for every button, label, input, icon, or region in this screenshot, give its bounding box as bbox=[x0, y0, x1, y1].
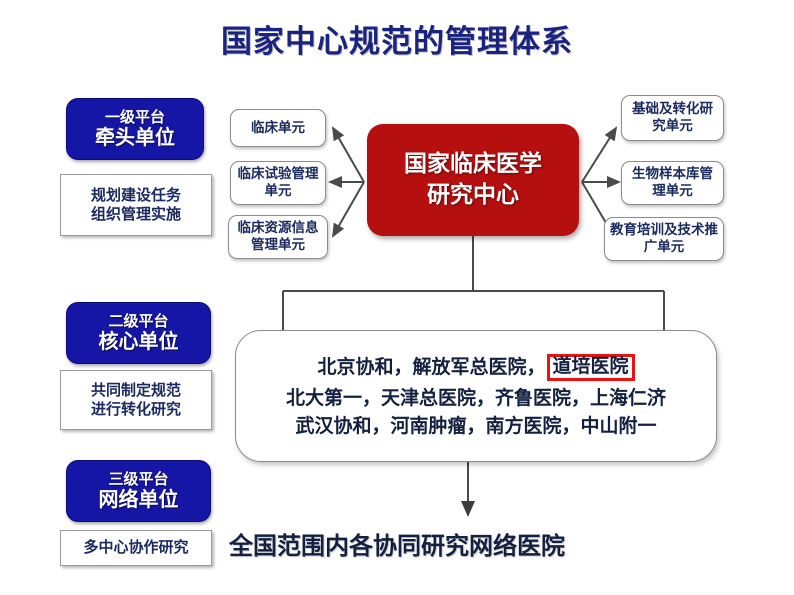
platform-1-description-box: 规划建设任务 组织管理实施 bbox=[60, 174, 212, 236]
page-title: 国家中心规范的管理体系 bbox=[0, 16, 794, 61]
center-box-line-2: 研究中心 bbox=[427, 180, 519, 211]
platform-2-description-box: 共同制定规范 进行转化研究 bbox=[60, 370, 212, 430]
platform-pill-level-1[interactable]: 一级平台 牵头单位 bbox=[66, 98, 204, 160]
left-unit-label-1: 临床单元 bbox=[251, 120, 305, 137]
hospital-list-line-3: 武汉协和，河南肿瘤，南方医院，中山附一 bbox=[295, 415, 656, 437]
right-unit-box-2[interactable]: 生物样本库管理单元 bbox=[621, 161, 724, 205]
hospital-list-line-2: 北大第一，天津总医院，齐鲁医院，上海仁济 bbox=[286, 387, 666, 409]
platform-2-unit-label: 核心单位 bbox=[99, 330, 179, 353]
platform-2-desc-line-1: 共同制定规范 bbox=[91, 381, 181, 400]
right-unit-label-1: 基础及转化研究单元 bbox=[626, 101, 719, 135]
platform-2-level-label: 二级平台 bbox=[108, 313, 168, 330]
platform-2-desc-line-2: 进行转化研究 bbox=[91, 400, 181, 419]
platform-1-desc-line-1: 规划建设任务 bbox=[91, 186, 181, 205]
left-unit-label-2: 临床试验管理单元 bbox=[235, 166, 321, 200]
platform-3-unit-label: 网络单位 bbox=[99, 488, 179, 511]
platform-3-level-label: 三级平台 bbox=[108, 471, 168, 488]
platform-1-level-label: 一级平台 bbox=[105, 109, 165, 126]
left-unit-box-3[interactable]: 临床资源信息管理单元 bbox=[228, 215, 328, 259]
platform-pill-level-3[interactable]: 三级平台 网络单位 bbox=[66, 460, 211, 522]
left-unit-label-3: 临床资源信息管理单元 bbox=[233, 220, 323, 254]
slide-canvas: 国家中心规范的管理体系 一级平台 牵头单位 规划建设 bbox=[0, 0, 794, 595]
hospital-list-line-1: 北京协和，解放军总医院，道培医院 bbox=[317, 354, 634, 381]
left-unit-box-1[interactable]: 临床单元 bbox=[230, 109, 326, 147]
hospital-highlighted-daopei[interactable]: 道培医院 bbox=[547, 354, 635, 381]
right-unit-box-1[interactable]: 基础及转化研究单元 bbox=[621, 95, 724, 141]
platform-1-unit-label: 牵头单位 bbox=[95, 126, 175, 149]
center-box-line-1: 国家临床医学 bbox=[404, 149, 542, 180]
right-unit-label-3: 教育培训及技术推广单元 bbox=[609, 222, 719, 256]
left-unit-box-2[interactable]: 临床试验管理单元 bbox=[230, 161, 326, 205]
platform-pill-level-2[interactable]: 二级平台 核心单位 bbox=[66, 302, 211, 364]
hospital-line-1-prefix: 北京协和，解放军总医院， bbox=[317, 356, 545, 378]
hospital-list-box: 北京协和，解放军总医院，道培医院 北大第一，天津总医院，齐鲁医院，上海仁济 武汉… bbox=[235, 330, 717, 462]
bottom-caption: 全国范围内各协同研究网络医院 bbox=[0, 526, 794, 561]
right-unit-label-2: 生物样本库管理单元 bbox=[626, 166, 719, 200]
center-national-clinical-research-center-box[interactable]: 国家临床医学 研究中心 bbox=[367, 124, 579, 236]
right-unit-box-3[interactable]: 教育培训及技术推广单元 bbox=[604, 217, 724, 261]
platform-1-desc-line-2: 组织管理实施 bbox=[91, 205, 181, 224]
